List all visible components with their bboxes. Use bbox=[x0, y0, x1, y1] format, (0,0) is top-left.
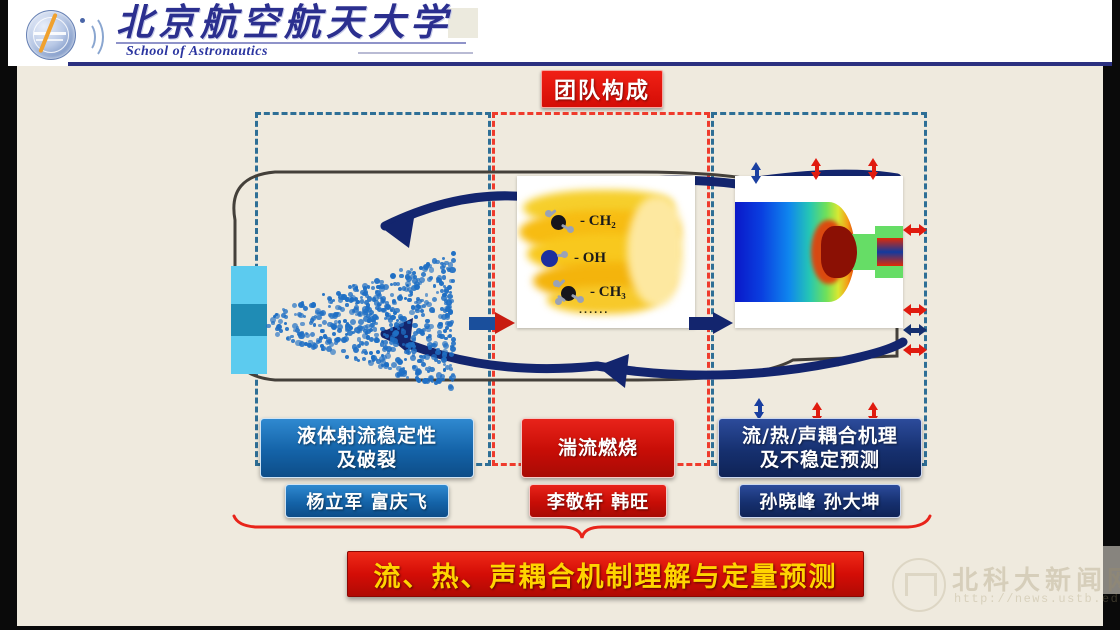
flow-arrow-spray-to-chemistry bbox=[469, 312, 515, 334]
beihang-emblem-icon bbox=[16, 4, 112, 62]
feedback-arrow-lower-far bbox=[837, 342, 903, 362]
slide-header: 北京航空航天大学 School of Astronautics bbox=[8, 0, 1112, 66]
names-box-combustion[interactable]: 李敬轩 韩旺 bbox=[529, 484, 667, 518]
slide-root: 北京航空航天大学 School of Astronautics 团队构成 bbox=[0, 0, 1120, 630]
feedback-arrow-lower-right bbox=[597, 362, 837, 375]
conclusion-banner: 流、热、声耦合机制理解与定量预测 bbox=[347, 551, 864, 597]
header-shade bbox=[448, 8, 478, 38]
topic-1-line2: 及破裂 bbox=[297, 448, 437, 472]
spray-droplet-field bbox=[261, 246, 451, 396]
species-ch2-label: - CH₂ bbox=[580, 213, 616, 230]
cfd-contour-panel bbox=[735, 176, 903, 328]
topic-3-line2: 及不稳定预测 bbox=[742, 448, 898, 472]
school-name: School of Astronautics bbox=[126, 44, 268, 60]
topic-1-line1: 液体射流稳定性 bbox=[297, 424, 437, 448]
flow-arrow-chemistry-to-cfd bbox=[689, 312, 733, 334]
topic-box-coupling[interactable]: 流/热/声耦合机理 及不稳定预测 bbox=[718, 418, 922, 478]
summary-brace bbox=[232, 514, 932, 540]
coupling-arrow-horizontal-1 bbox=[903, 224, 927, 236]
names-box-coupling[interactable]: 孙晓峰 孙大坤 bbox=[739, 484, 901, 518]
cfd-hot-zone-core bbox=[821, 226, 857, 278]
watermark-url: http://news.ustb.edu.cn bbox=[954, 592, 1120, 606]
coupling-arrow-horizontal-2 bbox=[903, 304, 927, 316]
slide-canvas: 团队构成 bbox=[17, 66, 1103, 626]
cfd-exhaust-stripe bbox=[877, 238, 903, 266]
coupling-arrow-vertical-1 bbox=[751, 162, 762, 184]
conclusion-banner-label: 流、热、声耦合机制理解与定量预测 bbox=[374, 555, 838, 594]
watermark: 北科大新闻网 http://news.ustb.edu.cn bbox=[890, 552, 1105, 614]
chemistry-panel: - CH₂ - OH bbox=[517, 176, 695, 328]
species-oh-row: - OH bbox=[539, 248, 606, 268]
coupling-arrow-horizontal-4 bbox=[903, 344, 927, 356]
coupling-arrow-horizontal-3 bbox=[903, 324, 927, 336]
species-ch2-row: - CH₂ bbox=[545, 210, 616, 232]
species-oh-label: - OH bbox=[574, 250, 606, 267]
topic-3-line1: 流/热/声耦合机理 bbox=[742, 424, 898, 448]
topic-box-combustion[interactable]: 湍流燃烧 bbox=[521, 418, 675, 478]
names-box-liquid-jet[interactable]: 杨立军 富庆飞 bbox=[285, 484, 449, 518]
coupling-arrow-vertical-3 bbox=[868, 158, 879, 180]
watermark-seal-icon bbox=[892, 558, 946, 612]
species-ch3-row: - CH₃ bbox=[553, 280, 626, 304]
topic-box-liquid-jet[interactable]: 液体射流稳定性 及破裂 bbox=[260, 418, 474, 478]
coupling-arrow-vertical-2 bbox=[811, 158, 822, 180]
header-rule-secondary bbox=[358, 52, 473, 54]
topic-2-line1: 湍流燃烧 bbox=[558, 436, 638, 460]
species-ellipsis: ...... bbox=[579, 304, 609, 316]
university-name: 北京航空航天大学 bbox=[116, 2, 452, 42]
species-ch3-label: - CH₃ bbox=[590, 284, 626, 301]
coupling-arrow-vertical-4 bbox=[754, 398, 765, 420]
